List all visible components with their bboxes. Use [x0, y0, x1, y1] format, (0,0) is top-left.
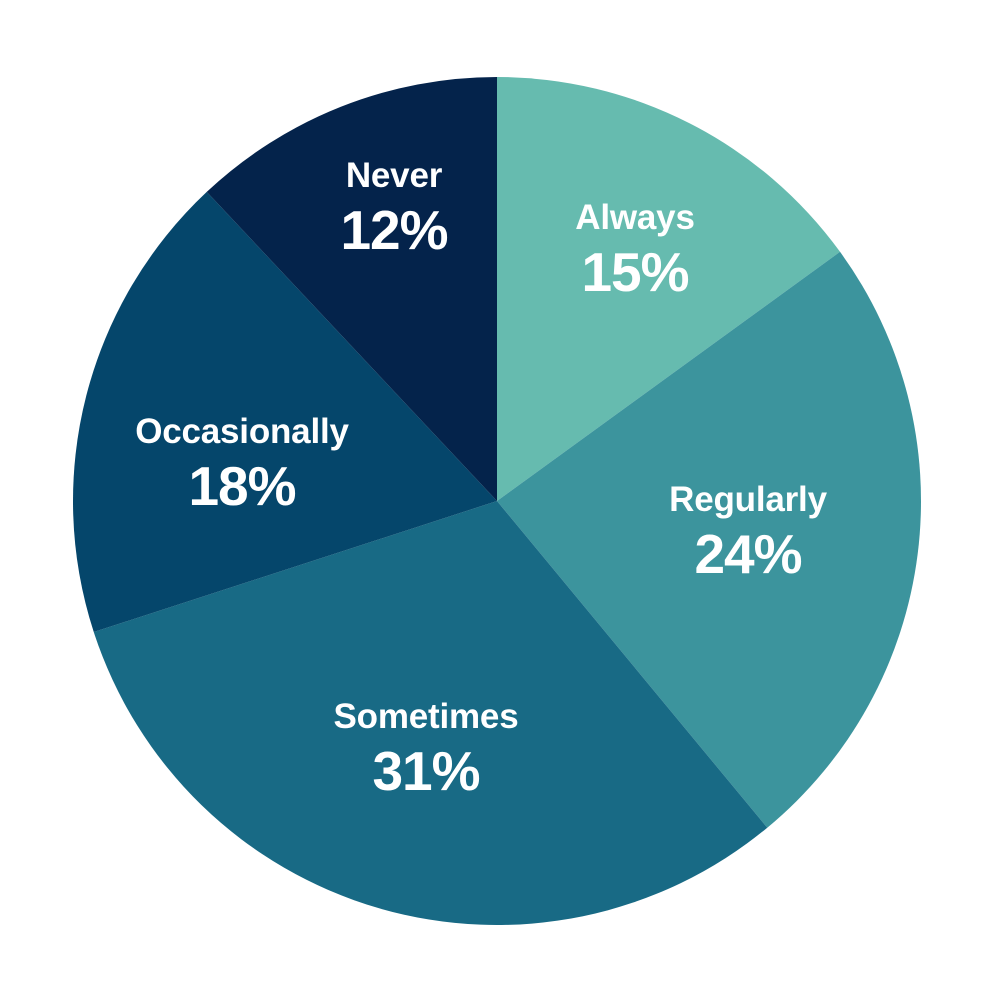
pie-chart: Always15%Regularly24%Sometimes31%Occasio… — [0, 0, 1000, 1000]
pie-chart-svg — [0, 0, 1000, 1000]
